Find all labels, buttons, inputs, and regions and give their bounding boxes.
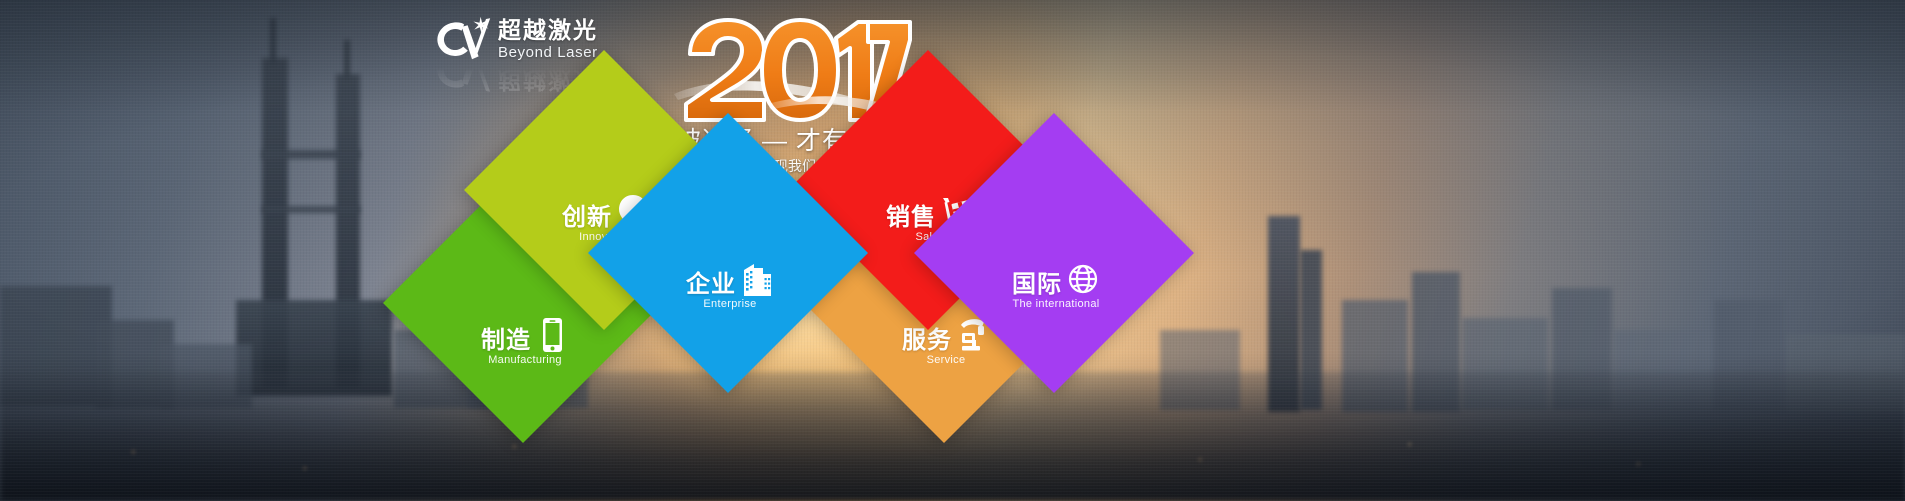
tile-innovation-label-cn: 创新 [562, 205, 612, 231]
promo-banner: 超越激光 Beyond Laser 超越激光 Beyond Laser [0, 0, 1905, 501]
tile-sales-label-cn: 销售 [886, 205, 936, 231]
tile-manufacturing-label-en: Manufacturing [452, 354, 598, 367]
buildings-icon [740, 260, 774, 298]
tile-international-label-cn: 国际 [1012, 272, 1062, 298]
tile-enterprise[interactable]: 企业 [588, 113, 868, 393]
tile-enterprise-label-en: Enterprise [657, 298, 803, 311]
tile-manufacturing-label-cn: 制造 [481, 328, 531, 354]
tile-international[interactable]: 国际 [914, 113, 1194, 393]
tile-service-label-cn: 服务 [902, 328, 952, 354]
globe-icon [1066, 260, 1100, 298]
tile-enterprise-label-cn: 企业 [686, 272, 736, 298]
diamond-tile-group: 制造 Manufacturing [0, 0, 1905, 501]
tile-service-label-en: Service [873, 354, 1019, 367]
smartphone-icon [535, 316, 569, 354]
tile-international-label-en: The international [973, 298, 1139, 311]
